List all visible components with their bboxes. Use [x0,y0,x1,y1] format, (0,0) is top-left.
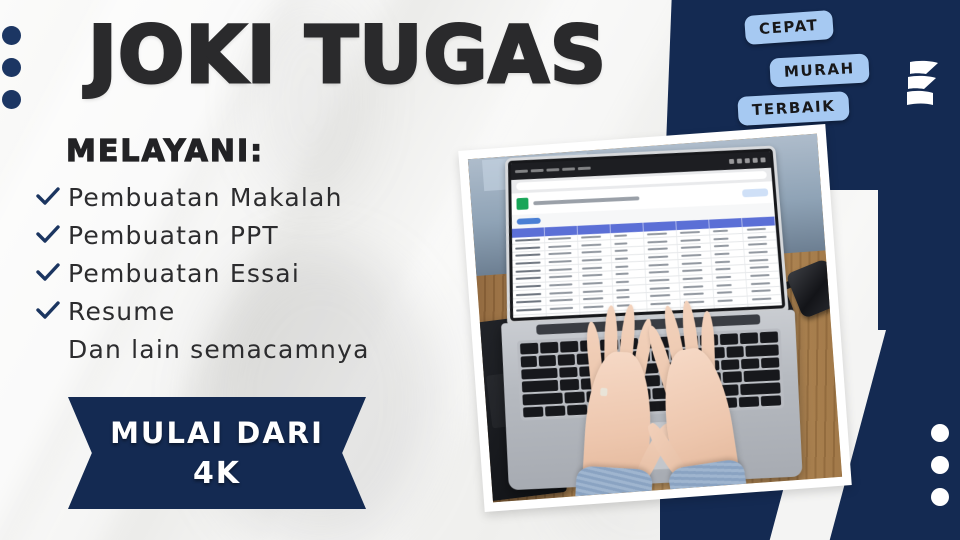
check-icon [36,263,68,283]
status-icon [729,159,734,164]
status-icon [761,158,766,163]
list-item-label: Dan lain semacamnya [68,335,370,364]
price-ribbon-amount: 4K [193,456,241,491]
toolbar-chip [517,218,541,225]
status-icon [737,159,742,164]
ring-accessory [599,388,607,397]
list-item-label: Pembuatan PPT [68,221,279,250]
list-item-label: Pembuatan Makalah [68,183,343,212]
brand-logo-icon [900,58,944,108]
page-title: JOKI TUGAS [88,17,607,95]
menubar-status-icons [729,158,771,165]
services-list: Pembuatan Makalah Pembuatan PPT Pembuata… [36,178,456,368]
check-icon [36,187,68,207]
laptop-object [493,143,802,490]
badge-murah: MURAH [769,53,869,87]
price-ribbon-label: MULAI DARI [110,416,324,450]
list-item: Resume [36,292,456,330]
spreadsheet-title [533,197,639,206]
denim-cuff [573,465,652,502]
check-icon [36,301,68,321]
list-item: Dan lain semacamnya [36,330,456,368]
list-item: Pembuatan Essai [36,254,456,292]
share-button [742,189,768,198]
promo-banner-canvas: JOKI TUGAS MELAYANI: Pembuatan Makalah P… [0,0,960,540]
spreadsheet-app-icon [516,198,528,210]
laptop-screen [508,149,786,322]
decorative-dot-left [2,58,21,77]
price-ribbon: MULAI DARI 4K [68,397,366,509]
badge-cepat: CEPAT [744,10,833,45]
list-item-label: Pembuatan Essai [68,259,300,288]
status-icon [753,158,758,163]
hero-photo-frame [458,124,852,512]
menubar-item [578,167,591,170]
menubar-item [515,170,528,173]
decorative-dot-left [2,90,21,109]
hero-photo [468,134,842,503]
check-icon [36,225,68,245]
badge-terbaik: TERBAIK [737,91,850,126]
services-heading: MELAYANI: [66,134,264,169]
laptop-lid [505,146,789,325]
decorative-dot-left [2,26,21,45]
status-icon [745,159,750,164]
decorative-dot-right [931,488,949,506]
decorative-dot-right [931,424,949,442]
menubar-item [531,169,544,172]
list-item-label: Resume [68,297,175,326]
menubar-item [562,168,575,171]
list-item: Pembuatan PPT [36,216,456,254]
list-item: Pembuatan Makalah [36,178,456,216]
decorative-dot-right [931,456,949,474]
menubar-item [546,169,559,172]
